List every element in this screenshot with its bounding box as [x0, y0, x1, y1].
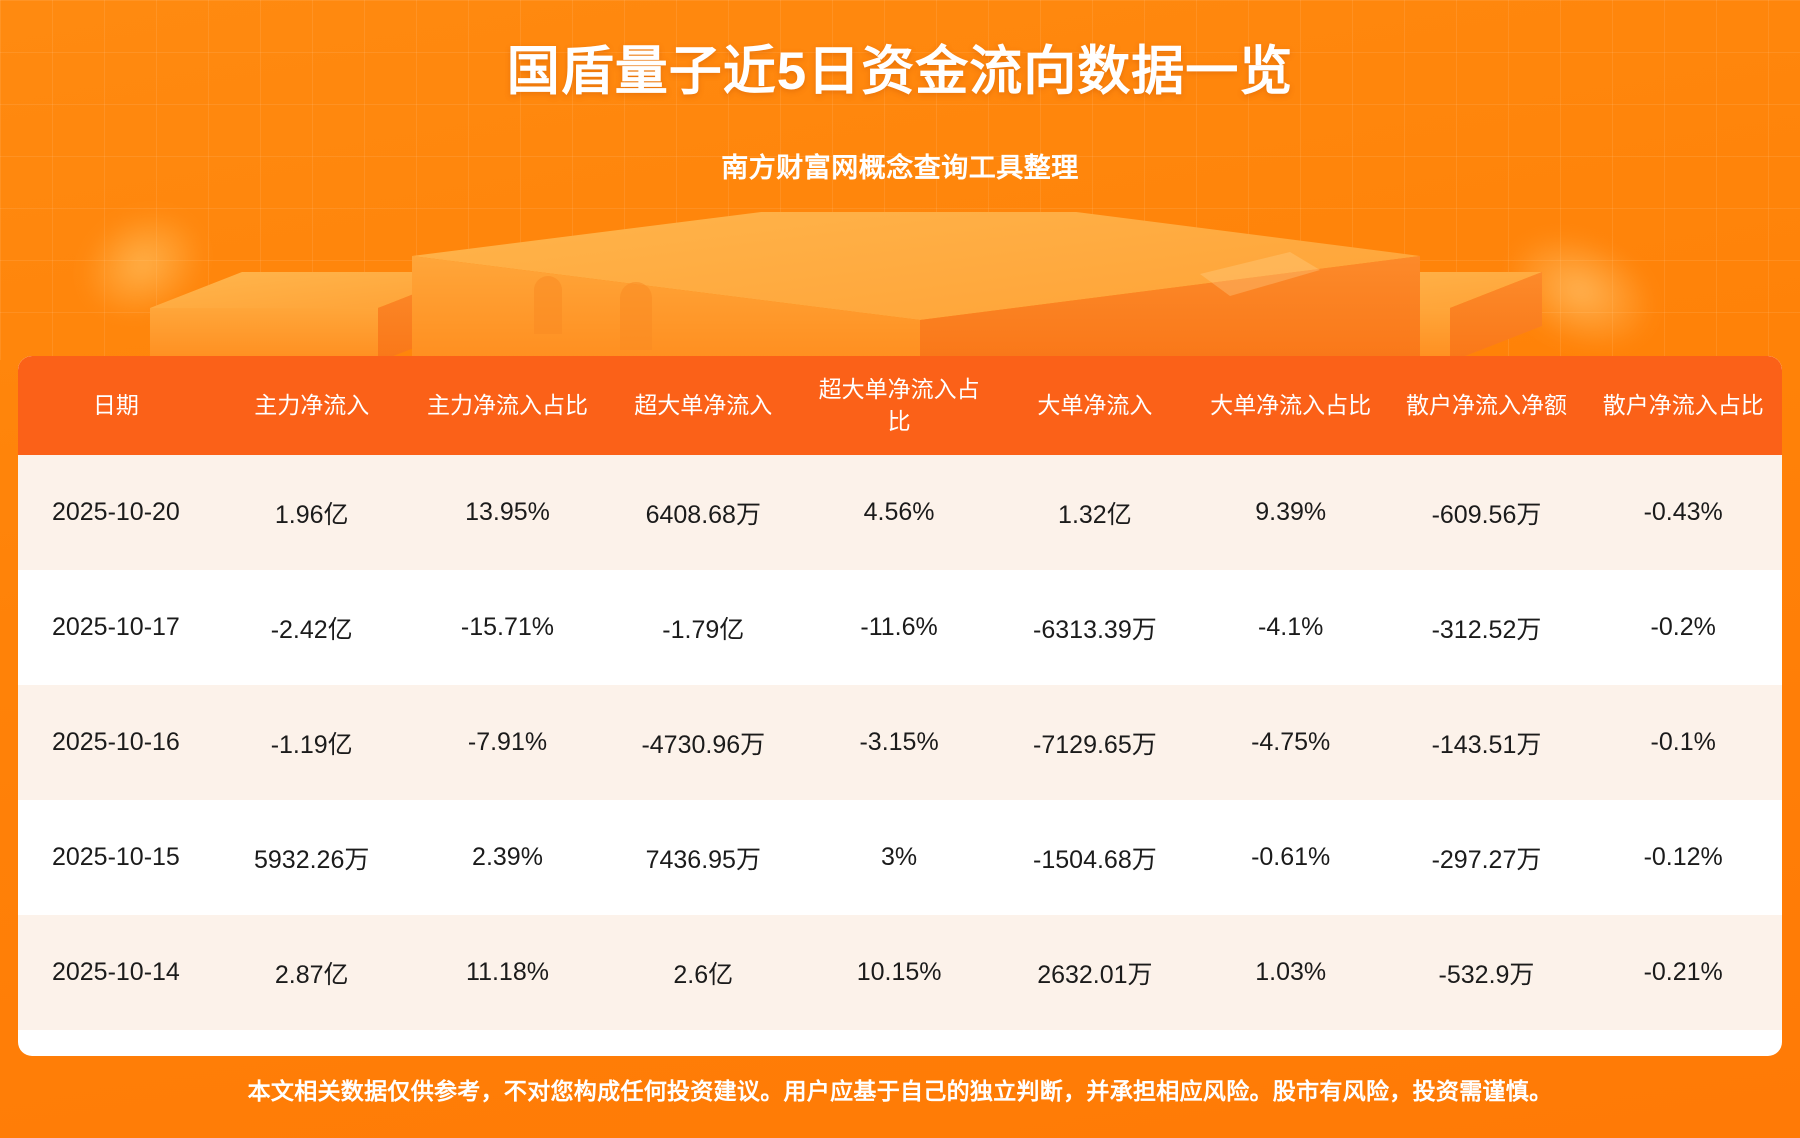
cell-main-net: 1.96亿	[214, 455, 410, 570]
cell-lg-pct: 9.39%	[1193, 455, 1389, 570]
glow-streak-left-icon	[61, 188, 225, 342]
cell-lg-net: -7129.65万	[997, 685, 1193, 800]
cell-lg-net: 2632.01万	[997, 915, 1193, 1030]
cell-xl-pct: -3.15%	[801, 685, 997, 800]
table-row[interactable]: 2025-10-16 -1.19亿 -7.91% -4730.96万 -3.15…	[18, 685, 1782, 800]
cell-main-net: -1.19亿	[214, 685, 410, 800]
cell-lg-pct: 1.03%	[1193, 915, 1389, 1030]
disclaimer-text: 本文相关数据仅供参考，不对您构成任何投资建议。用户应基于自己的独立判断，并承担相…	[0, 1072, 1800, 1106]
column-header-xl-net[interactable]: 超大单净流入	[605, 356, 801, 455]
column-header-retail-pct[interactable]: 散户净流入占比	[1584, 356, 1782, 455]
cell-xl-net: -4730.96万	[605, 685, 801, 800]
cell-main-pct: 11.18%	[410, 915, 606, 1030]
cell-main-pct: 2.39%	[410, 800, 606, 915]
table-row[interactable]: 2025-10-14 2.87亿 11.18% 2.6亿 10.15% 2632…	[18, 915, 1782, 1030]
cell-main-net: -2.42亿	[214, 570, 410, 685]
cell-xl-net: -1.79亿	[605, 570, 801, 685]
page-root: 国盾量子近5日资金流向数据一览 南方财富网概念查询工具整理 南方财富网 Sout…	[0, 0, 1800, 1138]
column-header-retail-net[interactable]: 散户净流入净额	[1389, 356, 1585, 455]
cell-date: 2025-10-15	[18, 800, 214, 915]
cell-main-net: 5932.26万	[214, 800, 410, 915]
cell-lg-pct: -0.61%	[1193, 800, 1389, 915]
cell-xl-pct: 4.56%	[801, 455, 997, 570]
column-header-date[interactable]: 日期	[18, 356, 214, 455]
page-title: 国盾量子近5日资金流向数据一览	[0, 42, 1800, 103]
cell-xl-pct: -11.6%	[801, 570, 997, 685]
table-body: 2025-10-20 1.96亿 13.95% 6408.68万 4.56% 1…	[18, 455, 1782, 1030]
cell-date: 2025-10-17	[18, 570, 214, 685]
cell-date: 2025-10-20	[18, 455, 214, 570]
table-row[interactable]: 2025-10-15 5932.26万 2.39% 7436.95万 3% -1…	[18, 800, 1782, 915]
column-header-main-pct[interactable]: 主力净流入占比	[410, 356, 606, 455]
cell-main-pct: -7.91%	[410, 685, 606, 800]
table-row[interactable]: 2025-10-20 1.96亿 13.95% 6408.68万 4.56% 1…	[18, 455, 1782, 570]
cell-retail-pct: -0.12%	[1584, 800, 1782, 915]
cell-retail-pct: -0.21%	[1584, 915, 1782, 1030]
cell-retail-pct: -0.1%	[1584, 685, 1782, 800]
cell-date: 2025-10-14	[18, 915, 214, 1030]
cell-xl-net: 2.6亿	[605, 915, 801, 1030]
page-subtitle: 南方财富网概念查询工具整理	[0, 146, 1800, 185]
cell-xl-net: 6408.68万	[605, 455, 801, 570]
cell-main-net: 2.87亿	[214, 915, 410, 1030]
fund-flow-table: 日期 主力净流入 主力净流入占比 超大单净流入 超大单净流入占比 大单净流入 大…	[18, 356, 1782, 1030]
column-header-lg-pct[interactable]: 大单净流入占比	[1193, 356, 1389, 455]
cell-lg-pct: -4.1%	[1193, 570, 1389, 685]
cell-retail-pct: -0.43%	[1584, 455, 1782, 570]
column-header-lg-net[interactable]: 大单净流入	[997, 356, 1193, 455]
data-table-card: 南方财富网 Southmoney.com 日期 主力净流入 主力净流入占比 超大…	[18, 356, 1782, 1056]
column-header-main-net[interactable]: 主力净流入	[214, 356, 410, 455]
glow-streak-right-icon	[1485, 208, 1676, 374]
table-header-row: 日期 主力净流入 主力净流入占比 超大单净流入 超大单净流入占比 大单净流入 大…	[18, 356, 1782, 455]
cell-lg-net: -6313.39万	[997, 570, 1193, 685]
cell-main-pct: 13.95%	[410, 455, 606, 570]
cell-main-pct: -15.71%	[410, 570, 606, 685]
table-header: 日期 主力净流入 主力净流入占比 超大单净流入 超大单净流入占比 大单净流入 大…	[18, 356, 1782, 455]
cell-lg-net: -1504.68万	[997, 800, 1193, 915]
table-row[interactable]: 2025-10-17 -2.42亿 -15.71% -1.79亿 -11.6% …	[18, 570, 1782, 685]
cell-retail-net: -143.51万	[1389, 685, 1585, 800]
cell-lg-pct: -4.75%	[1193, 685, 1389, 800]
cell-xl-net: 7436.95万	[605, 800, 801, 915]
column-header-xl-pct[interactable]: 超大单净流入占比	[801, 356, 997, 455]
cell-xl-pct: 3%	[801, 800, 997, 915]
cell-retail-net: -297.27万	[1389, 800, 1585, 915]
cell-retail-net: -312.52万	[1389, 570, 1585, 685]
cell-retail-net: -609.56万	[1389, 455, 1585, 570]
cell-date: 2025-10-16	[18, 685, 214, 800]
cell-lg-net: 1.32亿	[997, 455, 1193, 570]
cell-retail-pct: -0.2%	[1584, 570, 1782, 685]
cell-retail-net: -532.9万	[1389, 915, 1585, 1030]
cell-xl-pct: 10.15%	[801, 915, 997, 1030]
